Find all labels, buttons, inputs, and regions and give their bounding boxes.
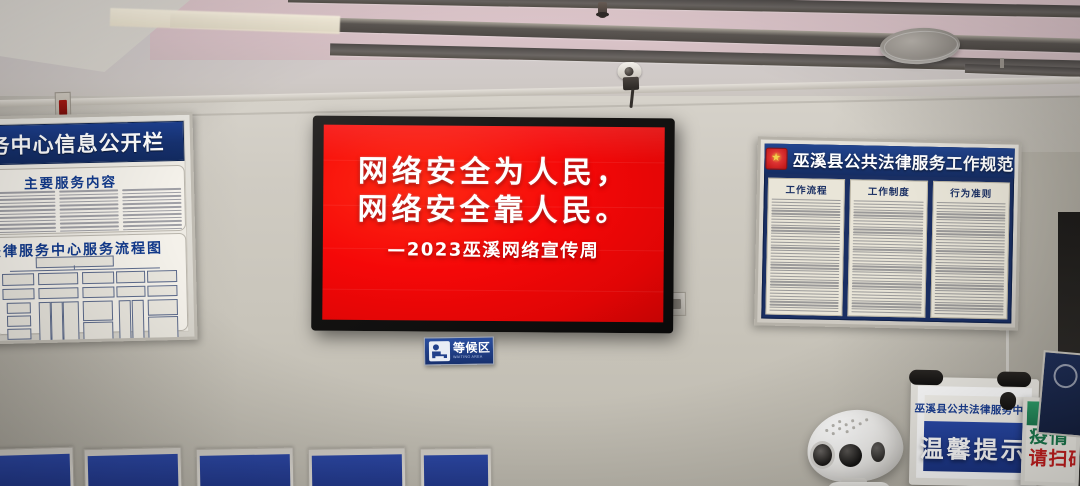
notice-sign-stand: 巫溪县公共法律服务中心 温馨提示 (909, 377, 1039, 486)
health-sign-line-2: 请扫码 (1028, 449, 1073, 470)
slogan-line-2: 网络安全靠人民。 (323, 191, 664, 232)
slogan-line-1: 网络安全为人民， (323, 153, 664, 194)
right-board-column: 工作制度 (848, 179, 928, 318)
flow-connector (74, 265, 75, 269)
sign-org-label: 巫溪县公共法律服务中心 (914, 400, 1034, 418)
left-board-section-flowchart: 法律服务中心服务流程图 (0, 233, 188, 335)
flow-node (38, 272, 78, 285)
waiting-area-sign: 等候区 WAITING AREA (424, 337, 494, 366)
sign-stand-grip (909, 370, 943, 386)
flow-node (116, 271, 145, 284)
text-block (769, 199, 841, 313)
right-board-header: 巫溪县公共法律服务工作规范 (764, 144, 1015, 179)
service-robot[interactable] (803, 408, 907, 486)
flow-node (116, 286, 145, 298)
flow-node (7, 328, 31, 340)
sign-stand-grip (997, 371, 1031, 387)
flow-node (7, 302, 31, 314)
right-board-header-text: 巫溪县公共法律服务工作规范 (793, 147, 1014, 175)
flow-node (82, 271, 114, 284)
sprinkler-head-icon (598, 2, 607, 18)
poster-board (196, 447, 295, 486)
service-flow-diagram (0, 254, 184, 331)
waiting-area-label: 等候区 (453, 342, 491, 355)
column-title: 工作制度 (854, 183, 924, 198)
robot-eye-left (813, 444, 832, 466)
ceiling-fixture-small (1000, 58, 1004, 68)
left-board-section-services: 主要服务内容 (0, 165, 186, 235)
right-board-columns: 工作流程 工作制度 行为准则 (765, 178, 1010, 320)
left-info-board: 服务中心信息公开栏 主要服务内容 法律服务中心服务流程图 (0, 112, 198, 345)
right-info-board: 巫溪县公共法律服务工作规范 工作流程 工作制度 行为准则 (754, 136, 1022, 330)
camera-cable (629, 88, 634, 108)
flow-node (147, 285, 177, 297)
flow-node (83, 321, 114, 344)
sign-frame: 巫溪县公共法律服务中心 温馨提示 (909, 377, 1039, 486)
sign-main-label: 温馨提示 (919, 428, 1028, 465)
slogan-subtitle: —2023巫溪网络宣传周 (323, 234, 664, 263)
display-screen: 网络安全为人民， 网络安全靠人民。 —2023巫溪网络宣传周 (322, 125, 665, 323)
text-block (59, 187, 119, 229)
text-block (934, 202, 1006, 316)
column-title: 行为准则 (936, 185, 1006, 200)
poster-board (308, 447, 407, 486)
left-board-header: 服务中心信息公开栏 (0, 121, 185, 165)
poster-board (420, 448, 493, 486)
ceiling-camera-icon (617, 62, 645, 109)
flow-node (38, 287, 78, 299)
robot-body (827, 482, 891, 486)
flow-node (148, 299, 178, 316)
national-emblem-icon (765, 148, 787, 170)
flow-node (82, 286, 114, 298)
column-title: 工作流程 (772, 182, 842, 197)
left-board-header-text: 服务中心信息公开栏 (0, 126, 165, 160)
left-board-section1-columns (0, 186, 182, 231)
flow-node (63, 301, 80, 344)
robot-eye-center (839, 444, 862, 467)
dark-signage-panel (1036, 350, 1080, 438)
flow-node (2, 273, 34, 286)
display-slogan: 网络安全为人民， 网络安全靠人民。 —2023巫溪网络宣传周 (323, 153, 665, 263)
sign-main-band: 温馨提示 (923, 421, 1024, 473)
flow-node (7, 315, 31, 327)
text-block (852, 200, 924, 314)
flow-node (2, 288, 34, 300)
robot-eye-right (871, 442, 885, 462)
right-board-column: 工作流程 (765, 178, 845, 317)
flow-node (132, 300, 145, 345)
right-board-column: 行为准则 (930, 181, 1010, 320)
bottom-poster-row (0, 452, 470, 486)
lobby-photo-scene: 服务中心信息公开栏 主要服务内容 法律服务中心服务流程图 (0, 0, 1080, 486)
text-block (122, 186, 182, 228)
poster-board (0, 447, 75, 486)
flow-node (119, 300, 132, 344)
poster-board (84, 447, 183, 486)
text-block (0, 189, 56, 231)
flow-node (83, 300, 113, 321)
waiting-area-sublabel: WAITING AREA (453, 356, 491, 360)
wall-mounted-display[interactable]: 网络安全为人民， 网络安全靠人民。 —2023巫溪网络宣传周 (311, 116, 675, 334)
waiting-area-labels: 等候区 WAITING AREA (453, 342, 491, 360)
seated-person-icon (429, 341, 450, 361)
flow-node (147, 270, 177, 283)
